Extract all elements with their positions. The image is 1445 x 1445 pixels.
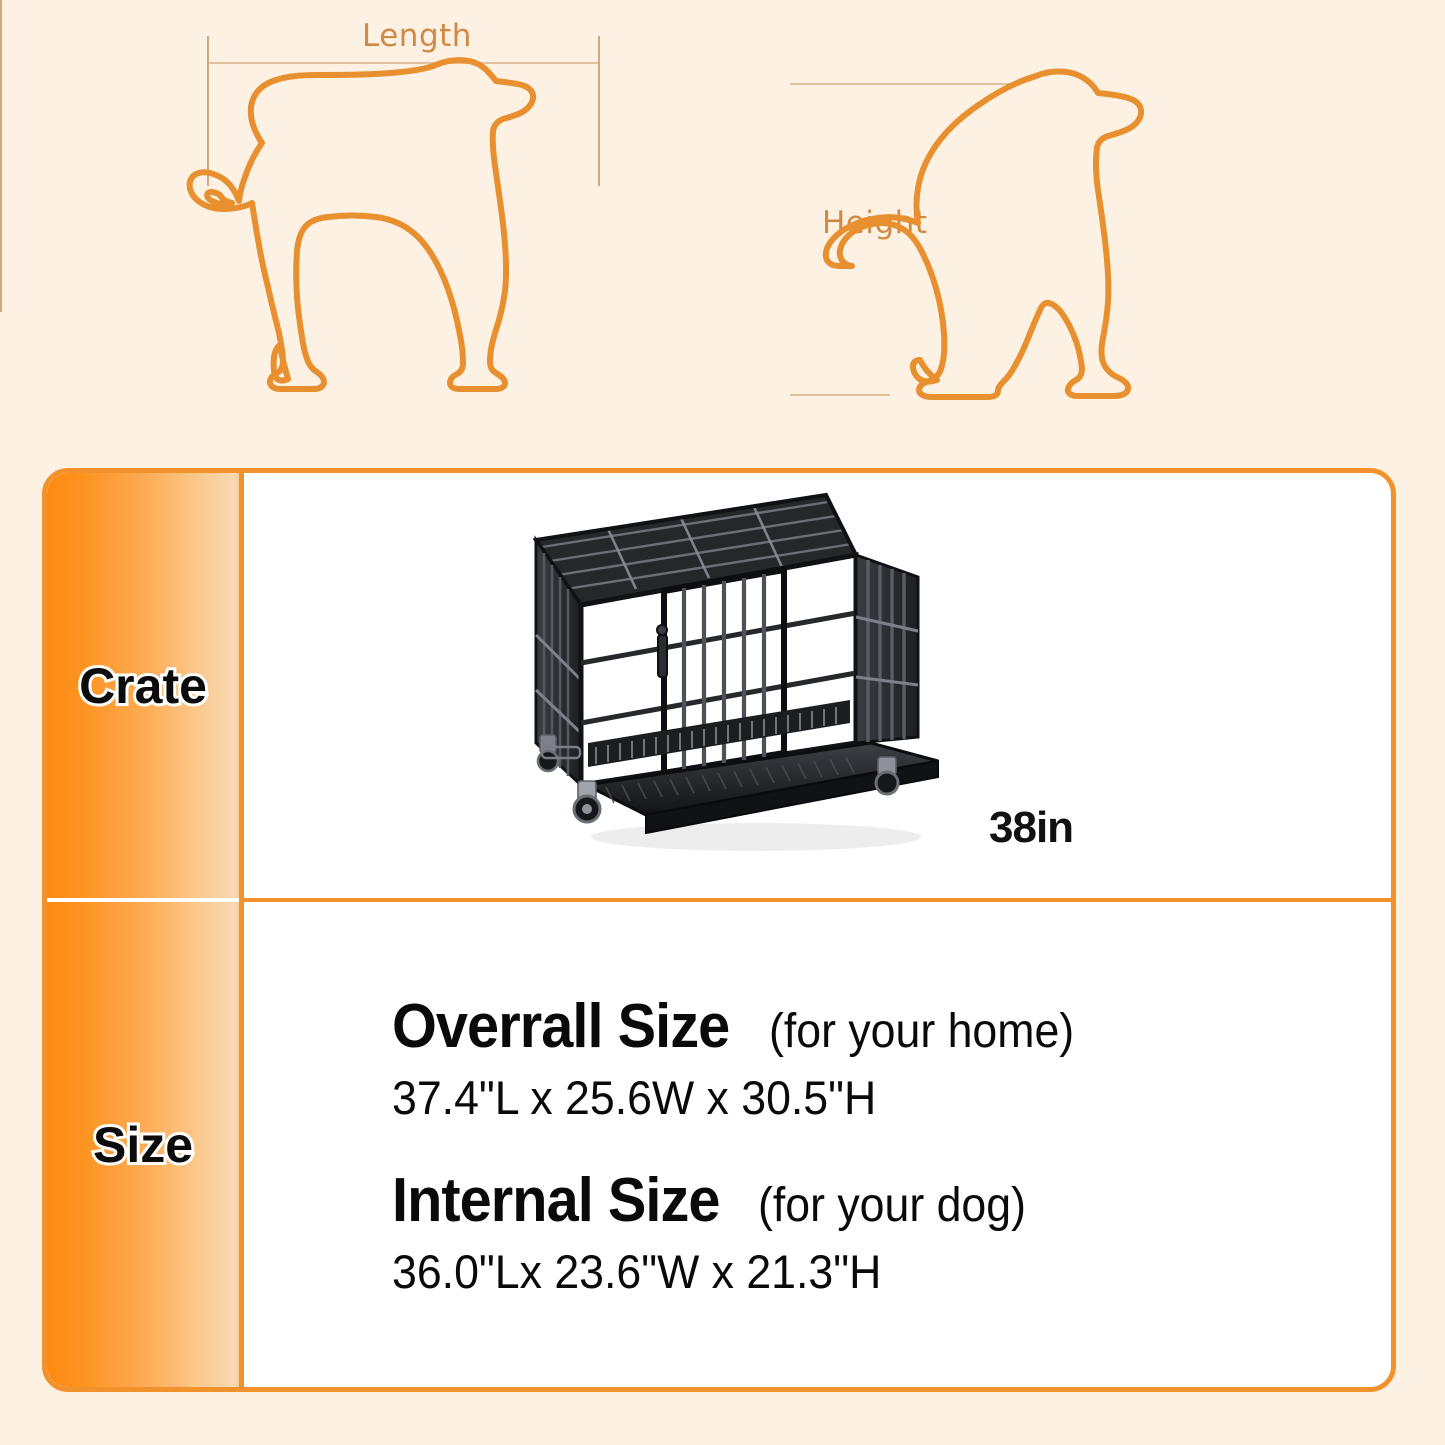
spec-content-column: 38in Overrall Size (for your home) 37.4"…: [244, 473, 1391, 1387]
dog-sitting-silhouette-icon: [820, 60, 1240, 440]
spec-label-column: Crate Size: [47, 473, 244, 1387]
internal-size-heading: Internal Size (for your dog): [392, 1165, 1391, 1236]
overall-size-dimensions: 37.4"L x 25.6W x 30.5"H: [392, 1070, 1341, 1125]
crate-row-label: Crate: [79, 657, 207, 715]
overall-size-heading: Overrall Size (for your home): [392, 991, 1391, 1062]
label-cell-crate: Crate: [47, 473, 239, 898]
size-spec-row: Overrall Size (for your home) 37.4"L x 2…: [244, 902, 1391, 1387]
overall-size-block: Overrall Size (for your home) 37.4"L x 2…: [392, 991, 1391, 1125]
crate-product-row: 38in: [244, 473, 1391, 902]
label-cell-size: Size: [47, 898, 239, 1387]
internal-size-title: Internal Size: [392, 1165, 720, 1236]
height-dimension-line: [0, 0, 2, 312]
dog-standing-silhouette-icon: [160, 45, 620, 425]
overall-size-note: (for your home): [769, 1004, 1074, 1059]
internal-size-block: Internal Size (for your dog) 36.0"Lx 23.…: [392, 1165, 1391, 1299]
overall-size-title: Overrall Size: [392, 991, 729, 1062]
internal-size-note: (for your dog): [758, 1178, 1026, 1233]
size-row-label: Size: [93, 1116, 193, 1174]
dog-crate-product-image: [526, 485, 946, 875]
spec-card: Crate Size: [42, 468, 1396, 1392]
internal-size-dimensions: 36.0"Lx 23.6"W x 21.3"H: [392, 1244, 1341, 1299]
crate-size-caption: 38in: [989, 803, 1073, 853]
dog-measurement-diagram: Length Height: [0, 0, 1445, 455]
